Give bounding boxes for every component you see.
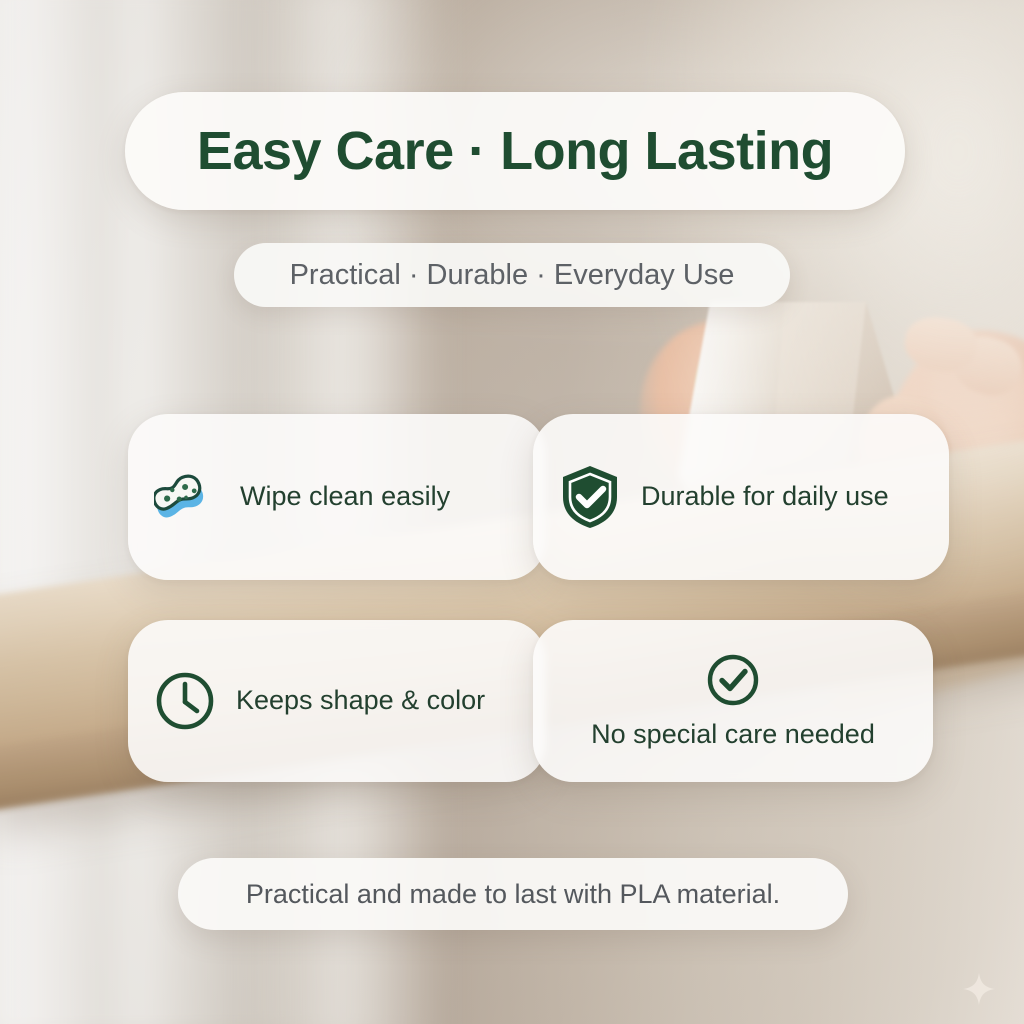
overlay-layer: Easy Care · Long Lasting Practical · Dur… [0, 0, 1024, 1024]
footer-caption: Practical and made to last with PLA mate… [246, 879, 780, 910]
feature-card-shape[interactable]: Keeps shape & color [128, 620, 546, 782]
check-circle-icon [705, 652, 761, 708]
sponge-icon [154, 464, 220, 530]
feature-label: Durable for daily use [641, 482, 889, 512]
feature-card-wipe[interactable]: Wipe clean easily [128, 414, 546, 580]
page-subtitle: Practical · Durable · Everyday Use [290, 259, 735, 292]
clock-icon [154, 670, 216, 732]
feature-card-durable[interactable]: Durable for daily use [533, 414, 949, 580]
infographic-stage: Easy Care · Long Lasting Practical · Dur… [0, 0, 1024, 1024]
title-pill: Easy Care · Long Lasting [125, 92, 905, 210]
feature-card-nocare[interactable]: No special care needed [533, 620, 933, 782]
footer-caption-pill: Practical and made to last with PLA mate… [178, 858, 848, 930]
subtitle-pill: Practical · Durable · Everyday Use [234, 243, 790, 307]
feature-label: Keeps shape & color [236, 686, 485, 716]
page-title: Easy Care · Long Lasting [197, 120, 833, 182]
shield-check-icon [559, 464, 621, 530]
feature-label: No special care needed [591, 720, 875, 750]
sparkle-icon [962, 972, 996, 1006]
feature-label: Wipe clean easily [240, 482, 450, 512]
